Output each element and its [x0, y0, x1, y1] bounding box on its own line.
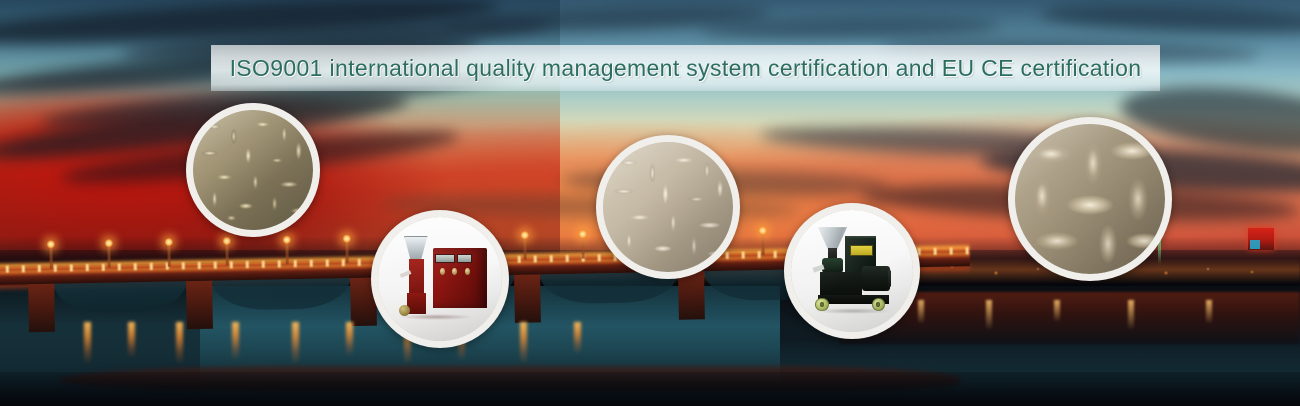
- hopper-icon: [404, 236, 428, 261]
- wheel-icon-right: [872, 298, 885, 311]
- headline-bar: ISO9001 international quality management…: [211, 45, 1160, 91]
- motor-icon: [862, 266, 890, 290]
- wheel-icon-left: [815, 298, 828, 311]
- red-pellet-mill-image: [378, 217, 502, 341]
- circle-wood-pellets-3: [1008, 117, 1172, 281]
- wood-pellets-image-1: [193, 110, 313, 230]
- nameplate-label: [850, 245, 873, 256]
- promo-banner: ISO9001 international quality management…: [0, 0, 1300, 406]
- circle-green-pellet-mill: [784, 203, 920, 339]
- green-pellet-mill-image: [791, 210, 913, 332]
- page-title: ISO9001 international quality management…: [230, 55, 1142, 82]
- circle-wood-pellets-1: [186, 103, 320, 237]
- wood-pellets-image-3: [1015, 124, 1165, 274]
- bottom-vignette: [0, 372, 1300, 406]
- hopper-icon: [818, 227, 847, 249]
- wood-pellets-image-2: [603, 142, 733, 272]
- circle-wood-pellets-2: [596, 135, 740, 279]
- red-building-sign: [1248, 228, 1274, 250]
- circle-red-pellet-mill: [371, 210, 509, 348]
